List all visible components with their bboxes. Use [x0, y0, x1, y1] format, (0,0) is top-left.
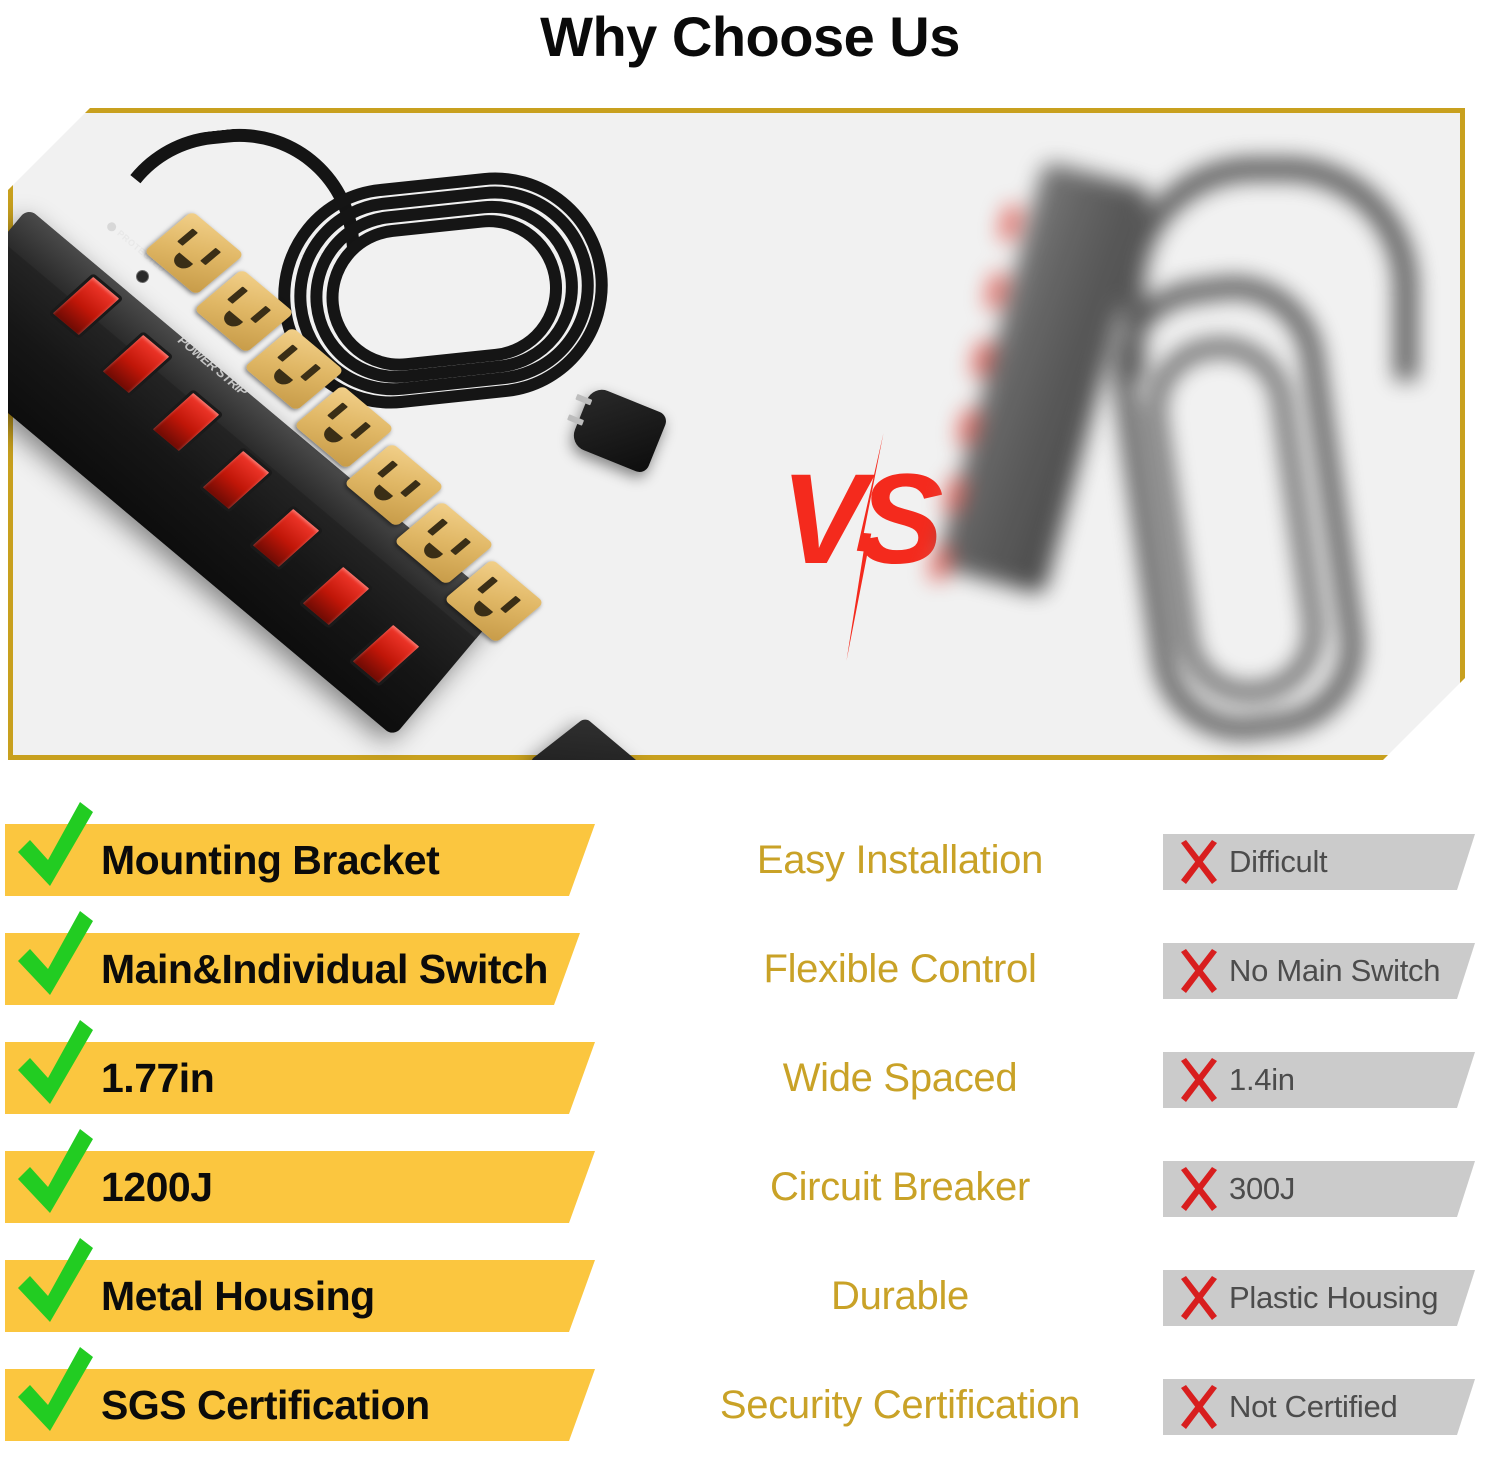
green-check-icon [14, 1236, 96, 1328]
comparison-row: 1200JCircuit Breaker300J [0, 1135, 1500, 1239]
feature-label: Easy Installation [660, 824, 1140, 896]
green-check-icon [14, 909, 96, 1001]
comparison-table: Mounting BracketEasy InstallationDifficu… [0, 808, 1500, 1462]
pro-label: SGS Certification [101, 1382, 430, 1429]
green-check-icon [14, 1018, 96, 1110]
feature-label: Circuit Breaker [660, 1151, 1140, 1223]
red-cross-icon [1175, 1058, 1223, 1104]
comparison-row: Main&Individual SwitchFlexible ControlNo… [0, 917, 1500, 1021]
green-check-icon [14, 800, 96, 892]
red-cross-icon [1175, 1167, 1223, 1213]
con-label: No Main Switch [1229, 953, 1440, 989]
product-power-strip-icon: PROTECTED POWER STRIP [38, 148, 738, 748]
pro-label: Main&Individual Switch [101, 946, 548, 993]
competitor-switch-icon [998, 204, 1023, 241]
red-cross-icon [1175, 1276, 1223, 1322]
con-label: Plastic Housing [1229, 1280, 1438, 1316]
hero-content: PROTECTED POWER STRIP VS [8, 108, 1465, 760]
feature-label: Durable [660, 1260, 1140, 1332]
comparison-row: Mounting BracketEasy InstallationDifficu… [0, 808, 1500, 912]
green-check-icon [14, 1127, 96, 1219]
power-strip-end-cap [529, 717, 677, 760]
feature-label: Flexible Control [660, 933, 1140, 1005]
plug-icon [569, 385, 669, 475]
pro-label: Metal Housing [101, 1273, 375, 1320]
pro-label: 1.77in [101, 1055, 214, 1102]
feature-label: Security Certification [660, 1369, 1140, 1441]
con-label: 300J [1229, 1171, 1295, 1207]
green-check-icon [14, 1345, 96, 1437]
red-cross-icon [1175, 840, 1223, 886]
page-title: Why Choose Us [0, 0, 1500, 72]
pro-label: 1200J [101, 1164, 213, 1211]
con-label: Not Certified [1229, 1389, 1397, 1425]
pro-label: Mounting Bracket [101, 837, 439, 884]
competitor-power-strip-icon [928, 128, 1465, 748]
comparison-row: Metal HousingDurablePlastic Housing [0, 1244, 1500, 1348]
comparison-row: 1.77inWide Spaced1.4in [0, 1026, 1500, 1130]
red-cross-icon [1175, 949, 1223, 995]
red-cross-icon [1175, 1385, 1223, 1431]
con-label: Difficult [1229, 844, 1327, 880]
comparison-row: SGS CertificationSecurity CertificationN… [0, 1353, 1500, 1457]
con-label: 1.4in [1229, 1062, 1295, 1098]
feature-label: Wide Spaced [660, 1042, 1140, 1114]
